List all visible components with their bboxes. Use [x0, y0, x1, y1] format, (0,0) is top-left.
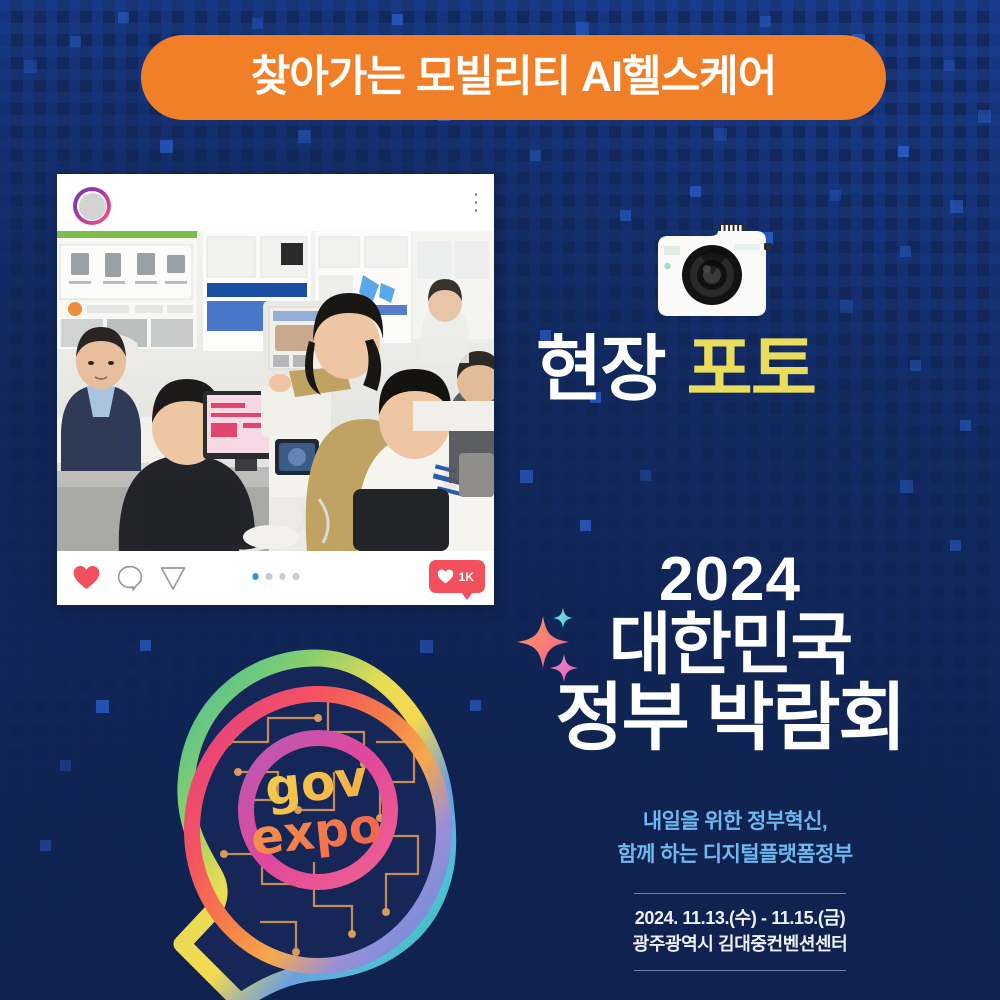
post-photo[interactable]	[57, 231, 494, 551]
event-title-block: 2024 대한민국 정부 박람회	[490, 548, 970, 757]
gov-expo-logo: gov expo	[128, 622, 504, 1000]
carousel-dots[interactable]	[252, 573, 299, 580]
post-action-bar: 1K	[57, 551, 494, 605]
share-send-icon[interactable]	[160, 565, 186, 591]
event-year: 2024	[490, 548, 970, 611]
slogan-line-1: 내일을 위한 정부혁신,	[500, 806, 970, 839]
avatar[interactable]	[73, 187, 111, 225]
divider-bottom	[634, 970, 846, 971]
carousel-dot-2[interactable]	[266, 573, 273, 580]
event-slogan: 내일을 위한 정부혁신, 함께 하는 디지털플랫폼정부	[500, 806, 970, 871]
slogan-line-2: 함께 하는 디지털플랫폼정부	[500, 839, 970, 872]
instagram-post-card: 1K	[57, 174, 494, 605]
post-header	[57, 174, 494, 231]
more-options-icon[interactable]	[474, 193, 478, 212]
like-count-text: 1K	[459, 571, 474, 583]
carousel-dot-1[interactable]	[252, 573, 259, 580]
event-venue: 광주광역시 김대중컨벤션센터	[560, 933, 920, 956]
camera-icon	[650, 224, 788, 320]
event-info-block: 2024. 11.13.(수) - 11.15.(금) 광주광역시 김대중컨벤션…	[560, 893, 920, 971]
headline-word-yellow: 포토	[686, 334, 814, 406]
logo-wordmark: gov expo	[248, 749, 384, 867]
carousel-dot-4[interactable]	[293, 573, 300, 580]
campaign-banner: 찾아가는 모빌리티 AI헬스케어	[141, 35, 886, 120]
divider-top	[634, 893, 846, 894]
carousel-dot-3[interactable]	[279, 573, 286, 580]
heart-icon	[437, 569, 454, 584]
like-heart-icon[interactable]	[73, 565, 100, 590]
photo-illustration	[57, 231, 494, 551]
event-title-line1: 대한민국	[490, 609, 970, 682]
section-headline: 현장 포토	[536, 333, 936, 407]
event-date: 2024. 11.13.(수) - 11.15.(금)	[560, 907, 920, 930]
campaign-banner-text: 찾아가는 모빌리티 AI헬스케어	[251, 56, 777, 99]
event-title-line2: 정부 박람회	[490, 679, 970, 757]
headline-word-white: 현장	[536, 334, 664, 406]
comment-icon[interactable]	[117, 565, 143, 591]
like-count-badge: 1K	[429, 560, 485, 593]
